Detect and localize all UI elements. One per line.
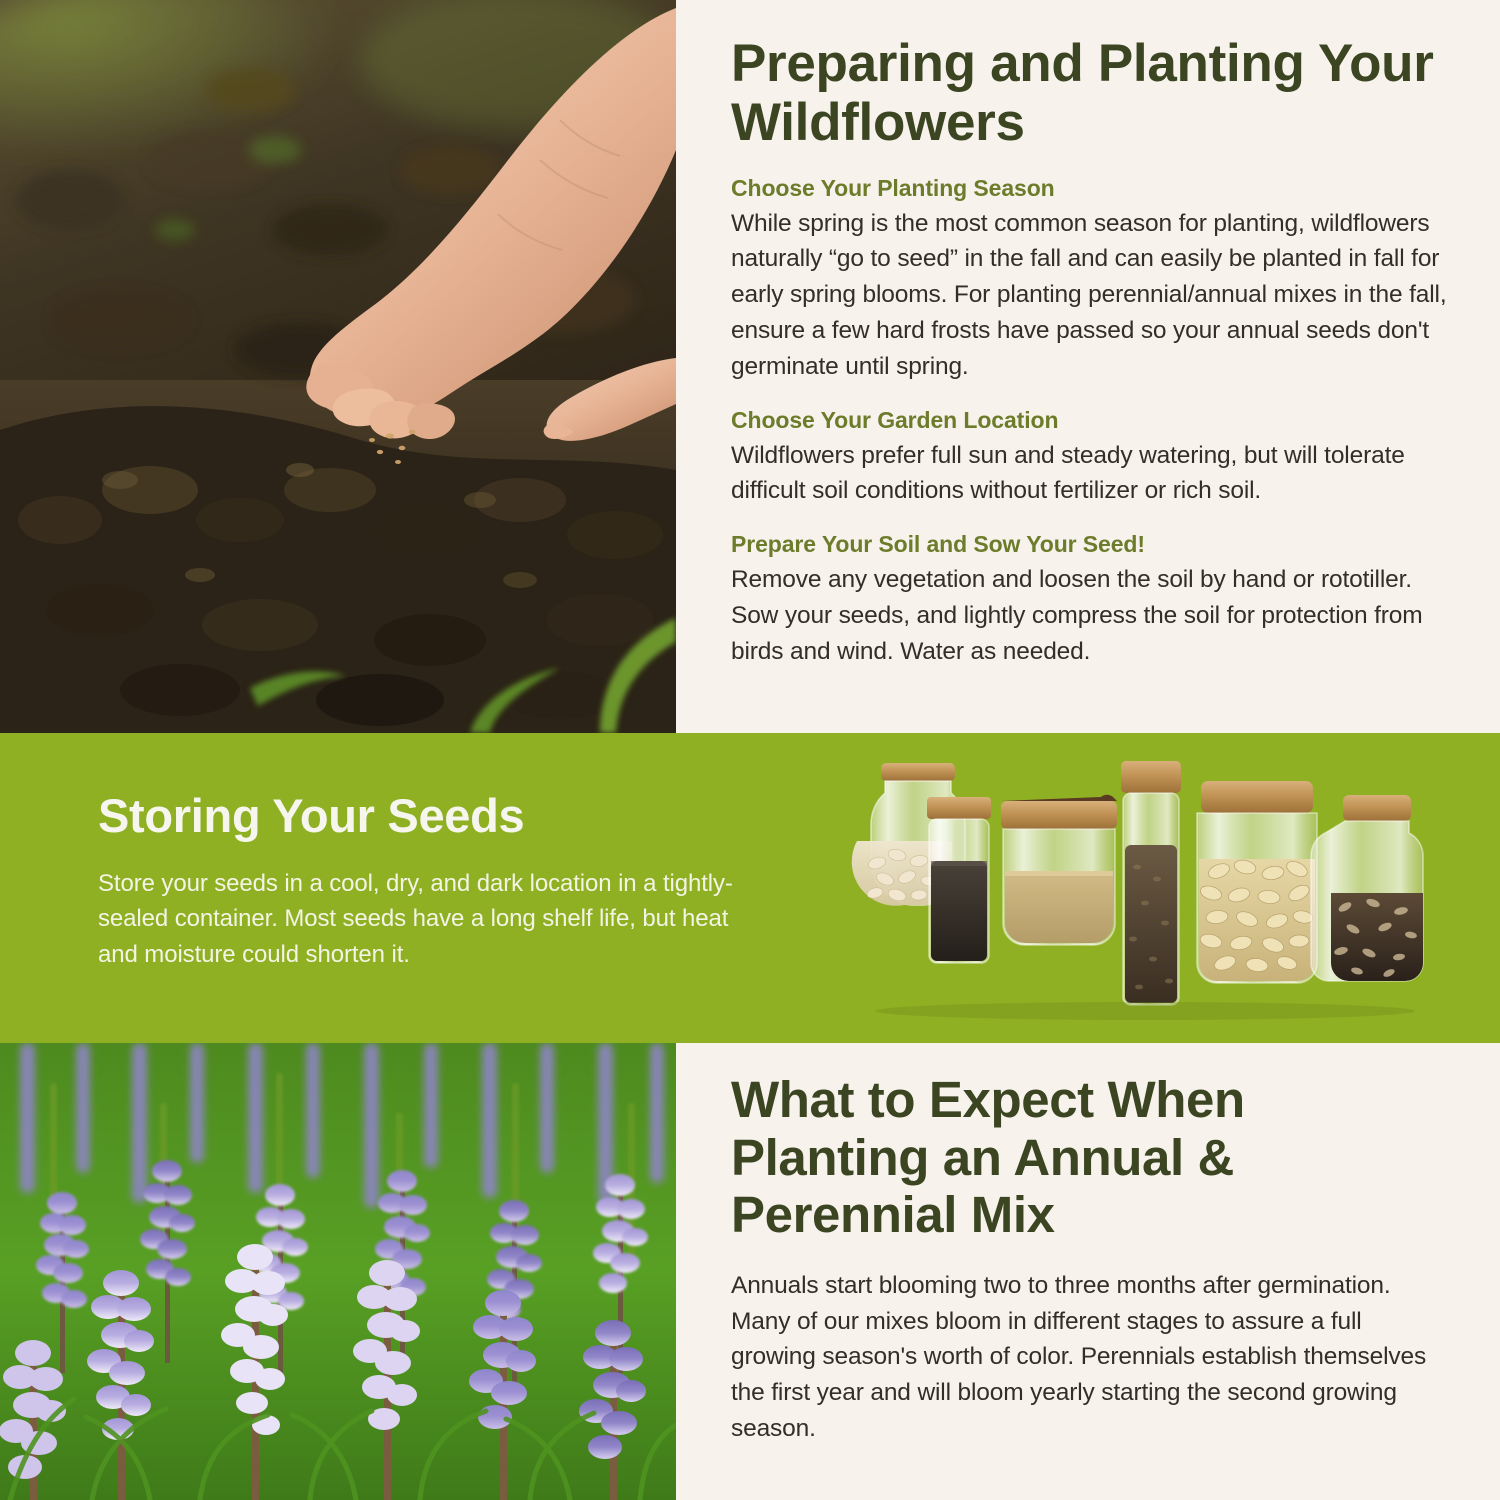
body-planting-season: While spring is the most common season f… — [731, 206, 1448, 385]
what-to-expect-title: What to Expect When Planting an Annual &… — [731, 1071, 1444, 1244]
lupine-field-illustration — [0, 1043, 676, 1500]
section-what-to-expect: What to Expect When Planting an Annual &… — [0, 1043, 1500, 1500]
seed-jars-illustration — [845, 743, 1465, 1043]
soil-photo-illustration — [0, 0, 676, 733]
top-text-column: Preparing and Planting Your Wildflowers … — [676, 0, 1500, 733]
subheading-garden-location: Choose Your Garden Location — [731, 407, 1448, 434]
hand-sowing-seeds-photo — [0, 0, 676, 733]
infographic-page: Preparing and Planting Your Wildflowers … — [0, 0, 1500, 1500]
body-prepare-soil: Remove any vegetation and loosen the soi… — [731, 562, 1448, 669]
storing-seeds-title: Storing Your Seeds — [98, 788, 758, 843]
seed-jars-photo — [845, 743, 1465, 1043]
bottom-text-column: What to Expect When Planting an Annual &… — [676, 1043, 1500, 1500]
jar-fine-tan-seed — [1001, 795, 1117, 945]
body-garden-location: Wildflowers prefer full sun and steady w… — [731, 438, 1448, 510]
jar-sunflower-seeds — [1311, 795, 1423, 981]
what-to-expect-body: Annuals start blooming two to three mont… — [731, 1268, 1444, 1447]
green-text-column: Storing Your Seeds Store your seeds in a… — [98, 788, 758, 972]
jar-pumpkin-seeds — [1197, 781, 1317, 983]
page-title: Preparing and Planting Your Wildflowers — [731, 34, 1448, 153]
lupine-field-photo — [0, 1043, 676, 1500]
spacer — [731, 385, 1448, 407]
section-preparing-planting: Preparing and Planting Your Wildflowers … — [0, 0, 1500, 733]
section-storing-your-seeds: Storing Your Seeds Store your seeds in a… — [0, 733, 1500, 1043]
subheading-planting-season: Choose Your Planting Season — [731, 175, 1448, 202]
jar-black-seeds — [927, 797, 991, 963]
storing-seeds-body: Store your seeds in a cool, dry, and dar… — [98, 866, 758, 972]
jar-tall-dark-seeds — [1121, 761, 1181, 1005]
subheading-prepare-soil: Prepare Your Soil and Sow Your Seed! — [731, 531, 1448, 558]
spacer — [731, 509, 1448, 531]
